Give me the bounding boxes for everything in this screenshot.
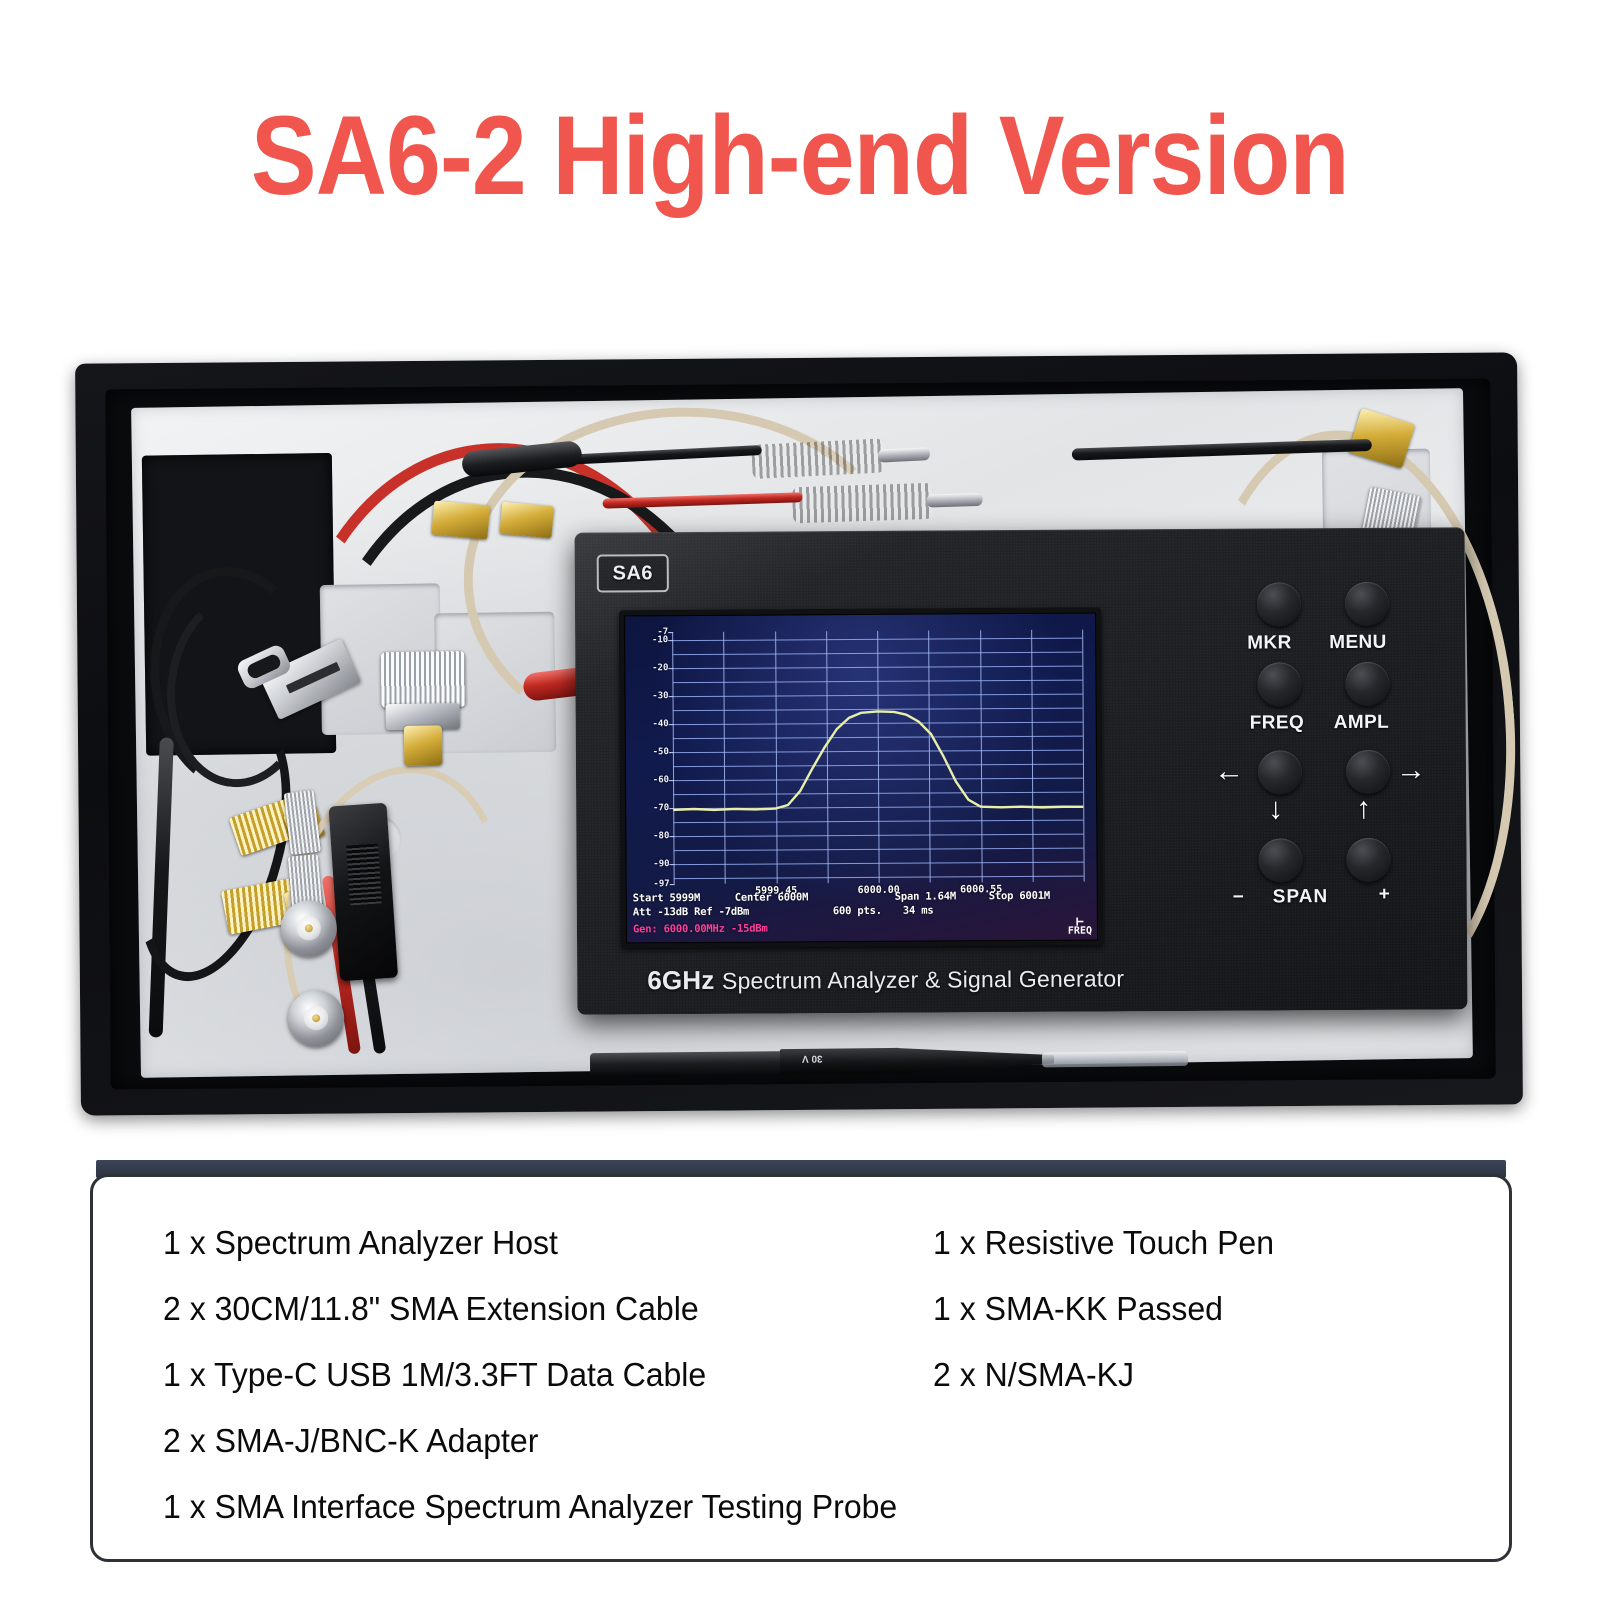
lcd-bezel: -7-10-20-30-40-50-60-70-80-90-97 5999.45…	[619, 608, 1103, 949]
package-list-item: 2 x SMA-J/BNC-K Adapter	[163, 1407, 910, 1473]
arrow-up-icon: ↑	[1356, 794, 1371, 824]
n-type-connector	[381, 651, 466, 708]
freq-softkey[interactable]: ⊢ FREQ	[1068, 918, 1092, 937]
product-photo: SA6 -7-10-20-30-40-50-60-70-80-90-97 599…	[70, 352, 1532, 1142]
status-points: 600 pts.	[833, 905, 882, 917]
arrow-right-icon: →	[1396, 756, 1426, 786]
freq-button[interactable]	[1257, 662, 1301, 706]
span-plus-label: +	[1379, 884, 1391, 906]
y-axis-tick-label: -50	[653, 748, 669, 758]
status-center: Center 6000M	[735, 891, 809, 903]
page-title: SA6-2 High-end Version	[251, 100, 1349, 212]
status-stop: Stop 6001M	[989, 890, 1050, 902]
banana-plug-red-tip	[926, 493, 982, 508]
bnc-adapter-2-core	[304, 1006, 328, 1030]
sma-connector-gold-right-2	[499, 502, 554, 539]
sa6-badge: SA6	[597, 554, 669, 592]
status-att-ref: Att -13dB Ref -7dBm	[633, 906, 749, 919]
status-generator: Gen: 6000.00MHz -15dBm	[633, 923, 768, 936]
y-axis-tick-label: -97	[653, 879, 669, 889]
span-label: SPAN	[1273, 886, 1329, 908]
package-list-item: 1 x SMA Interface Spectrum Analyzer Test…	[163, 1473, 910, 1539]
keypad: MKR MENU FREQ AMPL ← → ↓ ↑ − SPAN +	[1235, 576, 1427, 967]
status-sweep: 34 ms	[903, 905, 934, 917]
touch-pen-clear-sleeve	[1042, 1051, 1188, 1068]
trace-polyline	[673, 710, 1084, 810]
mkr-button[interactable]	[1257, 582, 1301, 626]
package-list-item: 2 x N/SMA-KJ	[933, 1341, 1437, 1407]
resistive-touch-pen: 30 V	[590, 1039, 1190, 1081]
y-axis-tick-label: -40	[652, 720, 668, 730]
package-contents-panel: 1 x Spectrum Analyzer Host2 x 30CM/11.8"…	[90, 1174, 1512, 1562]
y-axis-tick-mark	[670, 884, 675, 885]
touch-pen-grip	[780, 1048, 900, 1074]
spectrum-trace	[672, 630, 1084, 884]
status-start: Start 5999M	[633, 892, 700, 904]
package-list-item: 2 x 30CM/11.8" SMA Extension Cable	[163, 1275, 910, 1341]
y-axis-tick-label: -80	[653, 832, 669, 842]
package-list-right-column: 1 x Resistive Touch Pen1 x SMA-KK Passed…	[933, 1209, 1453, 1539]
y-axis-tick-label: -60	[653, 776, 669, 786]
package-list-left-column: 1 x Spectrum Analyzer Host2 x 30CM/11.8"…	[163, 1209, 933, 1539]
touch-pen-tip	[896, 1046, 1054, 1074]
touch-pen-body	[590, 1051, 790, 1075]
banana-plug-black-tip	[878, 447, 931, 463]
package-list-item: 1 x Type-C USB 1M/3.3FT Data Cable	[163, 1341, 910, 1407]
package-list-item: 1 x Spectrum Analyzer Host	[163, 1209, 910, 1275]
span-minus-label: −	[1233, 887, 1245, 909]
inline-module-vent	[346, 843, 382, 905]
y-axis-tick-label: -20	[652, 664, 668, 674]
n-type-connector-pin	[404, 725, 443, 766]
bnc-adapter-2-pin	[312, 1014, 320, 1022]
bnc-adapter-1-pin	[305, 924, 313, 932]
title-bar: SA6-2 High-end Version	[0, 96, 1600, 216]
status-span: Span 1.64M	[895, 890, 956, 902]
touch-pen-marking: 30 V	[802, 1053, 823, 1064]
y-axis-tick-label: -90	[653, 860, 669, 870]
left-button[interactable]	[1258, 750, 1302, 794]
x-axis-tick-label: 6000.00	[858, 885, 900, 896]
menu-button-label: MENU	[1329, 632, 1387, 654]
device-model-freq: 6GHz	[647, 965, 714, 995]
softkey-label: FREQ	[1068, 926, 1092, 937]
lcd-screen[interactable]: -7-10-20-30-40-50-60-70-80-90-97 5999.45…	[625, 614, 1097, 943]
banana-plug-red	[792, 483, 933, 524]
y-axis-tick-label: -70	[653, 804, 669, 814]
spectrum-analyzer-device: SA6 -7-10-20-30-40-50-60-70-80-90-97 599…	[575, 527, 1468, 1014]
right-button[interactable]	[1346, 750, 1390, 794]
arrow-down-icon: ↓	[1268, 794, 1283, 824]
sma-connector-gold-right	[431, 501, 490, 540]
ampl-button[interactable]	[1345, 662, 1389, 706]
y-axis-tick-label: -30	[652, 692, 668, 702]
ampl-button-label: AMPL	[1334, 712, 1390, 734]
package-contents-inner: 1 x Spectrum Analyzer Host2 x 30CM/11.8"…	[163, 1209, 1463, 1539]
freq-button-label: FREQ	[1250, 712, 1305, 734]
y-axis-tick-label: -10	[652, 636, 668, 646]
bnc-adapter-1-core	[297, 916, 321, 940]
menu-button[interactable]	[1345, 582, 1389, 626]
arrow-left-icon: ←	[1214, 757, 1244, 787]
device-model-text: 6GHz Spectrum Analyzer & Signal Generato…	[647, 962, 1124, 996]
span-minus-button[interactable]	[1258, 838, 1302, 882]
banana-plug-black	[751, 438, 885, 479]
device-model-desc: Spectrum Analyzer & Signal Generator	[722, 965, 1124, 993]
mkr-button-label: MKR	[1247, 632, 1292, 654]
span-plus-button[interactable]	[1346, 838, 1390, 882]
package-list-item: 1 x Resistive Touch Pen	[933, 1209, 1437, 1275]
package-list-item: 1 x SMA-KK Passed	[933, 1275, 1437, 1341]
